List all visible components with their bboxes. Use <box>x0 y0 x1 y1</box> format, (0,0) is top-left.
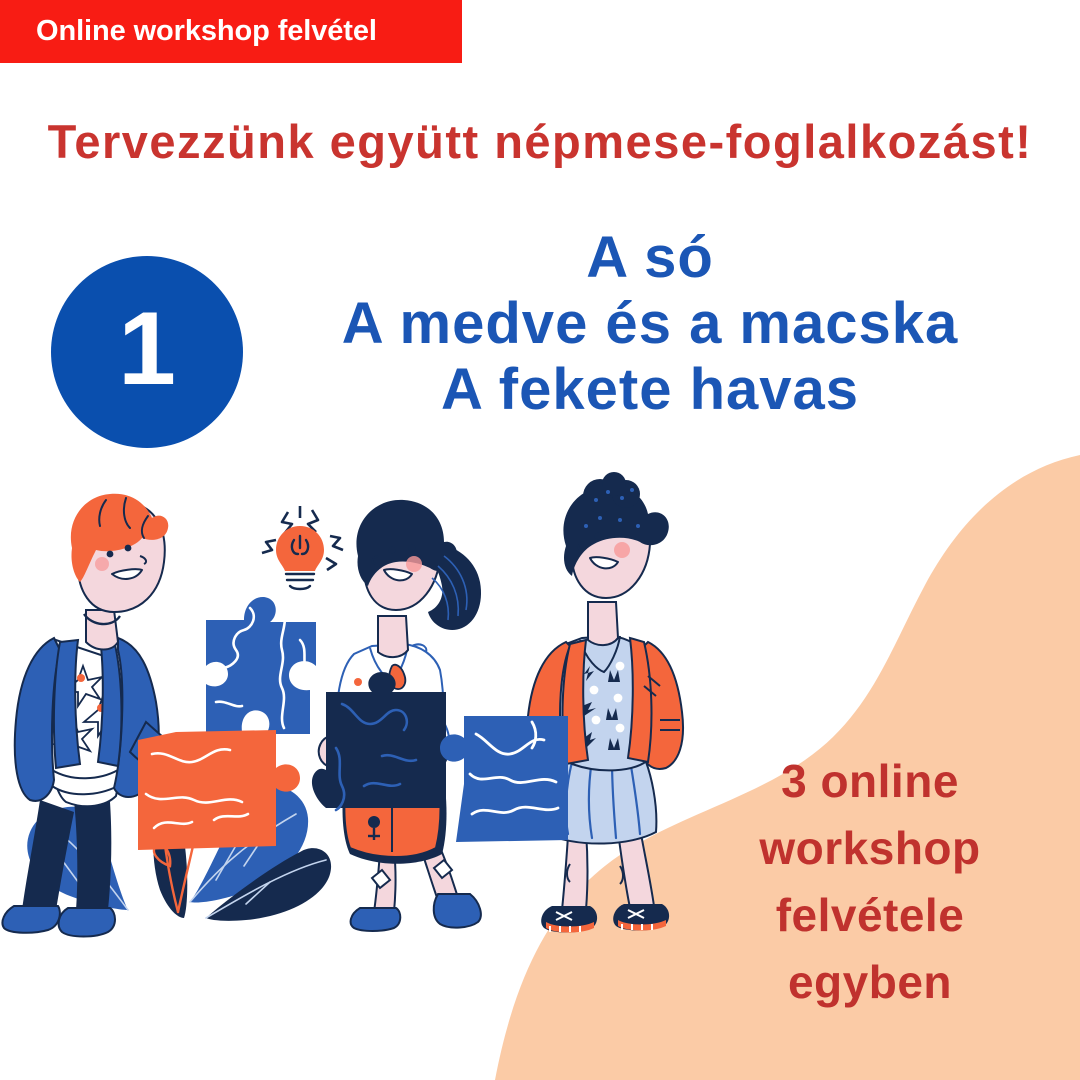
person-ponytail-woman <box>312 500 481 931</box>
promo-line-2: workshop <box>700 815 1040 882</box>
promo-line-3: felvétele <box>700 882 1040 949</box>
story-item-1: A só <box>250 225 1050 291</box>
lightbulb-icon <box>262 506 343 589</box>
page-title: Tervezzünk együtt népmese-foglalkozást! <box>0 118 1080 165</box>
story-list: A só A medve és a macska A fekete havas <box>250 225 1050 423</box>
poster-canvas: Online workshop felvétel Tervezzünk együ… <box>0 0 1080 1080</box>
promo-text: 3 online workshop felvétele egyben <box>700 748 1040 1017</box>
orange-puzzle-piece <box>138 730 300 850</box>
blue-puzzle-piece-held <box>440 716 568 842</box>
teamwork-illustration <box>0 470 720 940</box>
story-item-3: A fekete havas <box>250 357 1050 423</box>
ribbon-banner: Online workshop felvétel <box>0 0 462 63</box>
promo-line-4: egyben <box>700 949 1040 1016</box>
story-item-2: A medve és a macska <box>250 291 1050 357</box>
step-number-badge: 1 <box>51 256 243 448</box>
person-bun-woman <box>440 472 683 933</box>
blue-puzzle-piece <box>206 597 316 734</box>
navy-puzzle-piece <box>312 672 446 810</box>
ribbon-label: Online workshop felvétel <box>36 17 377 46</box>
step-number-label: 1 <box>118 297 176 401</box>
promo-line-1: 3 online <box>700 748 1040 815</box>
